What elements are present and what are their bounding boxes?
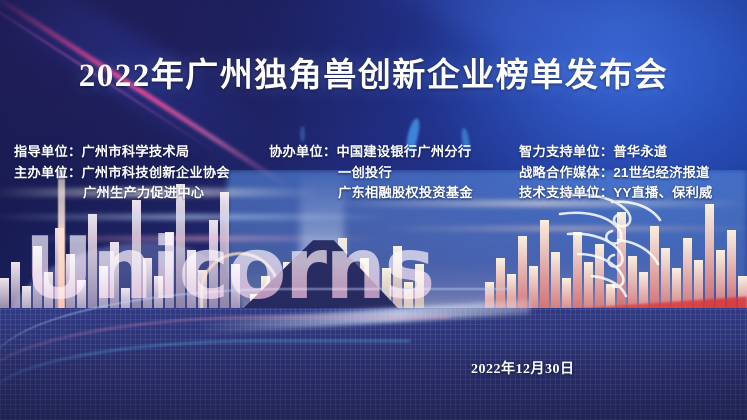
watermark-unicorns: Unicorns — [24, 226, 433, 312]
credit-row: 主办单位：广州市科技创新企业协会 — [14, 163, 230, 184]
credit-label: 指导单位： — [14, 142, 81, 163]
credit-label: 协办单位： — [269, 142, 336, 163]
credit-label: 智力支持单位： — [519, 142, 613, 163]
credit-value: 普华永道 — [613, 142, 667, 163]
credit-column-guidance: 指导单位：广州市科学技术局 主办单位：广州市科技创新企业协会 广州生产力促进中心 — [14, 142, 230, 204]
credit-value: 一创投行 — [338, 163, 392, 184]
credit-label: 技术支持单位： — [519, 183, 613, 204]
event-poster: Unicorns 2022年广州独角兽创新企业榜单发布会 指导单位：广州市科学技… — [0, 0, 747, 420]
credit-column-support: 智力支持单位：普华永道 战略合作媒体：21世纪经济报道 技术支持单位：YY直播、… — [519, 142, 713, 204]
credit-value: 广东相融股权投资基金 — [338, 183, 473, 204]
credit-value: 广州生产力促进中心 — [83, 183, 204, 204]
credit-row: 一创投行 — [269, 163, 473, 184]
credit-label: 主办单位： — [14, 163, 81, 184]
credit-row: 战略合作媒体：21世纪经济报道 — [519, 163, 713, 184]
credit-row: 指导单位：广州市科学技术局 — [14, 142, 230, 163]
credit-value: YY直播、保利威 — [613, 183, 712, 204]
credit-value: 中国建设银行广州分行 — [336, 142, 471, 163]
credit-row: 智力支持单位：普华永道 — [519, 142, 713, 163]
credit-row: 广州生产力促进中心 — [14, 183, 230, 204]
credit-row: 技术支持单位：YY直播、保利威 — [519, 183, 713, 204]
unicorn-mane-swirls — [556, 190, 706, 300]
page-title: 2022年广州独角兽创新企业榜单发布会 — [0, 48, 747, 96]
credit-value: 广州市科技创新企业协会 — [81, 163, 229, 184]
cyan-fleck-3 — [300, 126, 305, 142]
credit-row: 广东相融股权投资基金 — [269, 183, 473, 204]
credit-value: 广州市科学技术局 — [81, 142, 189, 163]
event-date: 2022年12月30日 — [471, 358, 575, 378]
credit-row: 协办单位：中国建设银行广州分行 — [269, 142, 473, 163]
credit-label: 战略合作媒体： — [519, 163, 613, 184]
credit-column-coorganizer: 协办单位：中国建设银行广州分行 一创投行 广东相融股权投资基金 — [269, 142, 473, 204]
credit-value: 21世纪经济报道 — [613, 163, 709, 184]
